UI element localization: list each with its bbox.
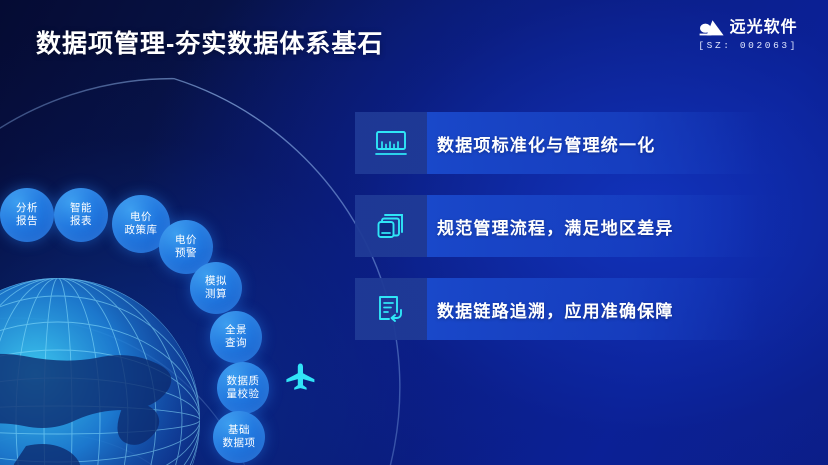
feature-card-text: 规范管理流程，满足地区差异: [427, 214, 674, 239]
yuanguang-logo-mark-icon: [699, 19, 725, 37]
slide-canvas: 数据项管理-夯实数据体系基石 远光软件 [SZ: 002063]: [0, 0, 828, 465]
node-bubble[interactable]: 基础数据项: [213, 411, 265, 463]
node-bubble-label: 电价政策库: [125, 211, 158, 237]
ruler-measure-icon: [355, 112, 427, 174]
stock-code: [SZ: 002063]: [698, 40, 798, 51]
node-bubble-label: 模拟测算: [205, 275, 227, 301]
feature-card[interactable]: 数据项标准化与管理统一化: [355, 112, 795, 174]
node-bubble[interactable]: 数据质量校验: [217, 362, 269, 414]
document-trace-icon: [355, 278, 427, 340]
node-bubble[interactable]: 分析报告: [0, 188, 54, 242]
node-bubble-label: 电价预警: [175, 234, 197, 260]
node-bubble[interactable]: 智能报表: [54, 188, 108, 242]
brand-logo: 远光软件 [SZ: 002063]: [698, 19, 798, 51]
feature-card-text: 数据链路追溯，应用准确保障: [427, 297, 674, 322]
left-illustration: 分析报告智能报表电价政策库电价预警模拟测算全景查询数据质量校验基础数据项: [0, 90, 350, 465]
node-bubble-label: 基础数据项: [223, 424, 256, 450]
node-bubble-label: 数据质量校验: [227, 375, 260, 401]
stacked-cards-icon: [355, 195, 427, 257]
company-name: 远光软件: [730, 19, 798, 37]
feature-card-text: 数据项标准化与管理统一化: [427, 131, 655, 156]
airplane-icon: [284, 362, 318, 392]
feature-card[interactable]: 数据链路追溯，应用准确保障: [355, 278, 795, 340]
node-bubble[interactable]: 全景查询: [210, 311, 262, 363]
node-bubble[interactable]: 模拟测算: [190, 262, 242, 314]
node-bubble-label: 全景查询: [225, 324, 247, 350]
node-bubble-label: 分析报告: [16, 202, 38, 228]
feature-card[interactable]: 规范管理流程，满足地区差异: [355, 195, 795, 257]
node-bubble-label: 智能报表: [70, 202, 92, 228]
feature-card-list: 数据项标准化与管理统一化 规范管理流程，满足地区差异: [355, 112, 795, 361]
